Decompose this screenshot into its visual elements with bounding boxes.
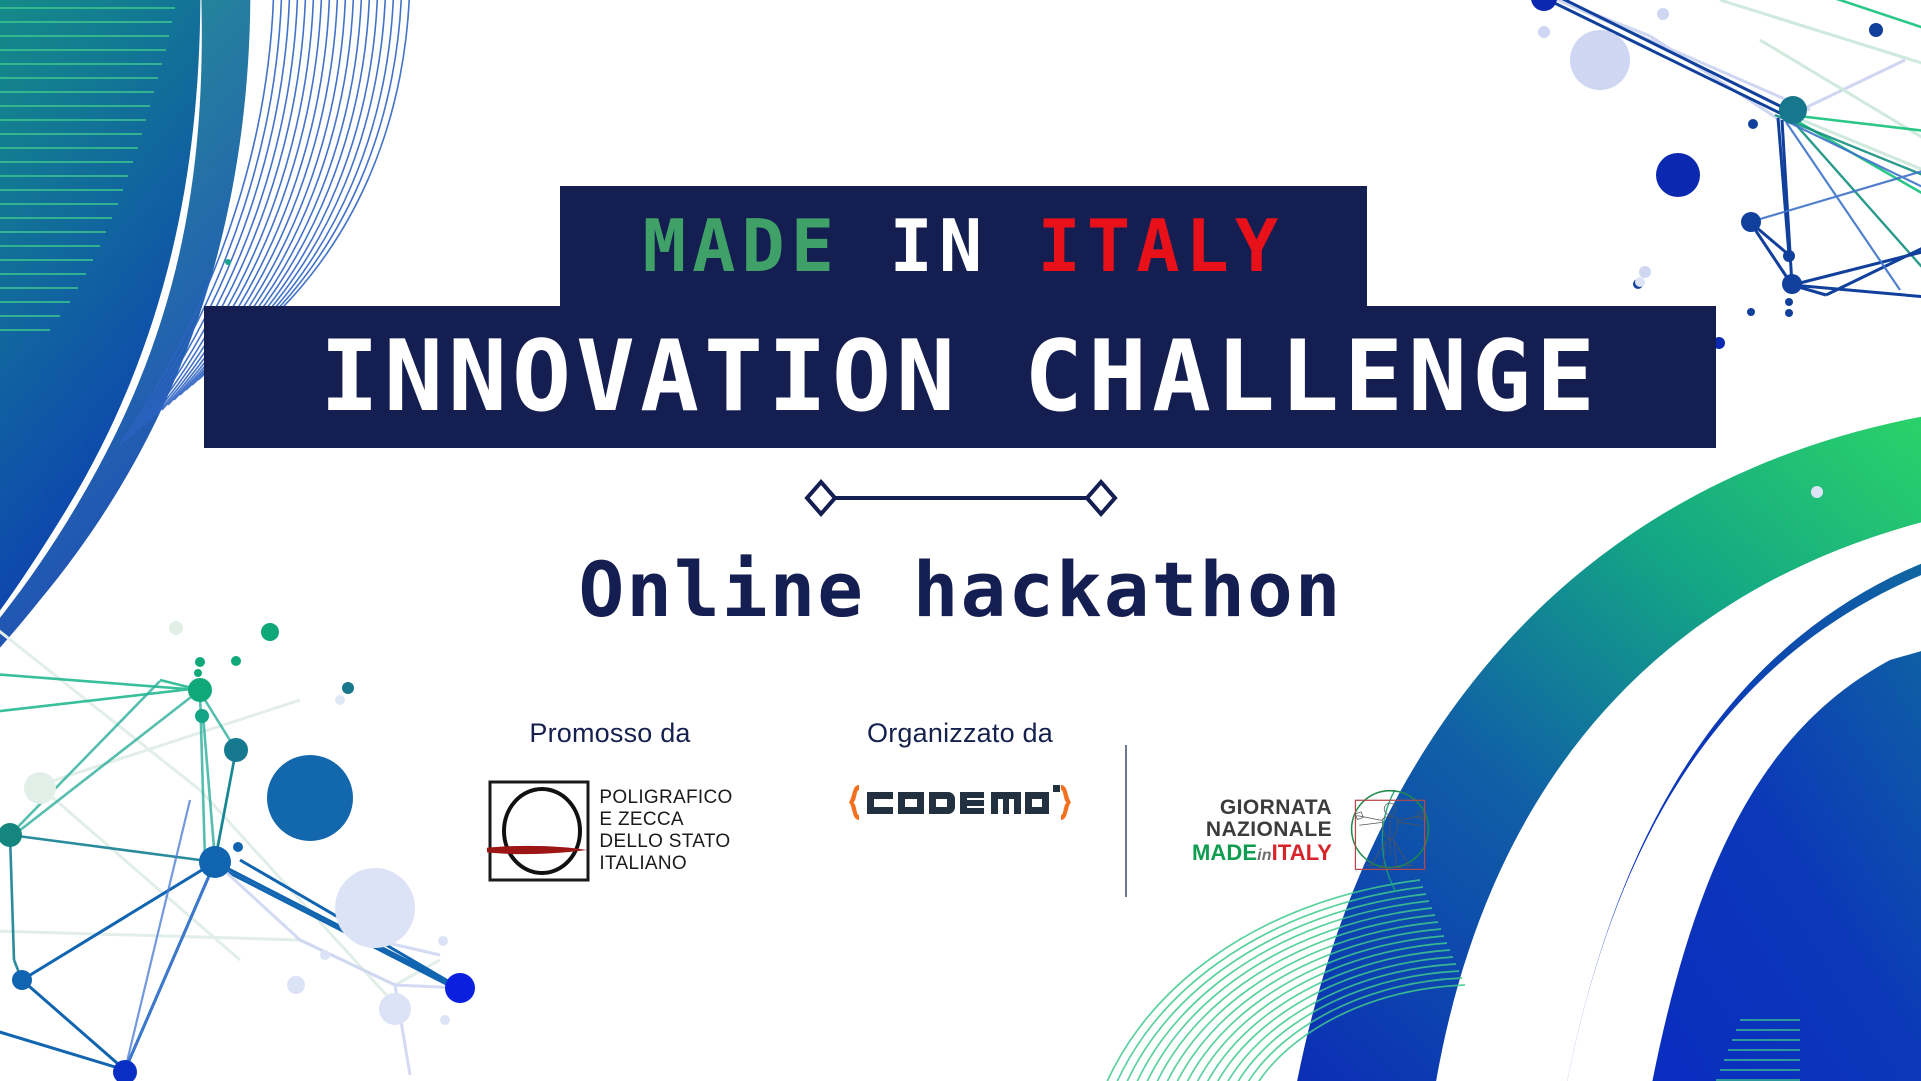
network-top-right xyxy=(1531,0,1921,349)
credit-organizzato: Organizzato da xyxy=(790,718,1130,831)
diamond-left-icon xyxy=(807,482,835,514)
codemotion-logo[interactable] xyxy=(790,779,1130,831)
giornata-in: in xyxy=(1257,847,1271,864)
polig-line-2: E ZECCA xyxy=(599,809,683,830)
title-line-2: INNOVATION CHALLENGE xyxy=(320,328,1600,426)
giornata-line-3: MADEinITALY xyxy=(1192,841,1332,865)
codemotion-wordmark-icon xyxy=(845,779,1075,831)
title-line-1: MADE IN ITALY xyxy=(643,210,1285,282)
poligrafico-wordmark: POLIGRAFICO E ZECCA DELLO STATO ITALIANO xyxy=(599,787,732,876)
poligrafico-logo[interactable]: POLIGRAFICO E ZECCA DELLO STATO ITALIANO xyxy=(440,779,780,883)
banner-made-in-italy: MADE IN ITALY xyxy=(560,186,1367,306)
credits-vertical-divider xyxy=(1125,745,1127,897)
credit-giornata: GIORNATA NAZIONALE MADEinITALY xyxy=(1150,718,1480,879)
vitruvian-man-icon xyxy=(1342,783,1438,879)
title-word-italy: ITALY xyxy=(1038,204,1285,288)
giornata-wordmark: GIORNATA NAZIONALE MADEinITALY xyxy=(1192,797,1332,865)
giornata-nazionale-logo[interactable]: GIORNATA NAZIONALE MADEinITALY xyxy=(1150,783,1480,879)
credit-label-giornata xyxy=(1150,718,1480,749)
hatch-stripes-top-left xyxy=(0,8,175,330)
poster-canvas: MADE IN ITALY INNOVATION CHALLENGE Onlin… xyxy=(0,0,1921,1081)
polig-line-3: DELLO STATO xyxy=(599,831,730,852)
hatch-stripes-br-inner xyxy=(1716,1020,1800,1080)
giornata-italy: ITALY xyxy=(1272,840,1332,865)
title-word-in: IN xyxy=(840,204,1037,288)
title-word-made: MADE xyxy=(643,204,840,288)
polig-line-4: ITALIANO xyxy=(599,853,687,874)
giornata-line-1: GIORNATA xyxy=(1192,797,1332,819)
banner-innovation-challenge: INNOVATION CHALLENGE xyxy=(204,306,1716,448)
giornata-line-2: NAZIONALE xyxy=(1192,819,1332,841)
giornata-made: MADE xyxy=(1192,840,1257,865)
credit-label-organizzato: Organizzato da xyxy=(790,718,1130,749)
diamond-right-icon xyxy=(1087,482,1115,514)
credit-promosso: Promosso da POLIGRAFICO E ZECCA DELLO ST… xyxy=(440,718,780,883)
polig-line-1: POLIGRAFICO xyxy=(599,787,732,808)
diamond-divider xyxy=(801,478,1121,518)
credits-row: Promosso da POLIGRAFICO E ZECCA DELLO ST… xyxy=(0,718,1921,968)
subtitle: Online hackathon xyxy=(0,545,1921,634)
poligrafico-mark-icon xyxy=(487,779,591,883)
credit-label-promosso: Promosso da xyxy=(440,718,780,749)
